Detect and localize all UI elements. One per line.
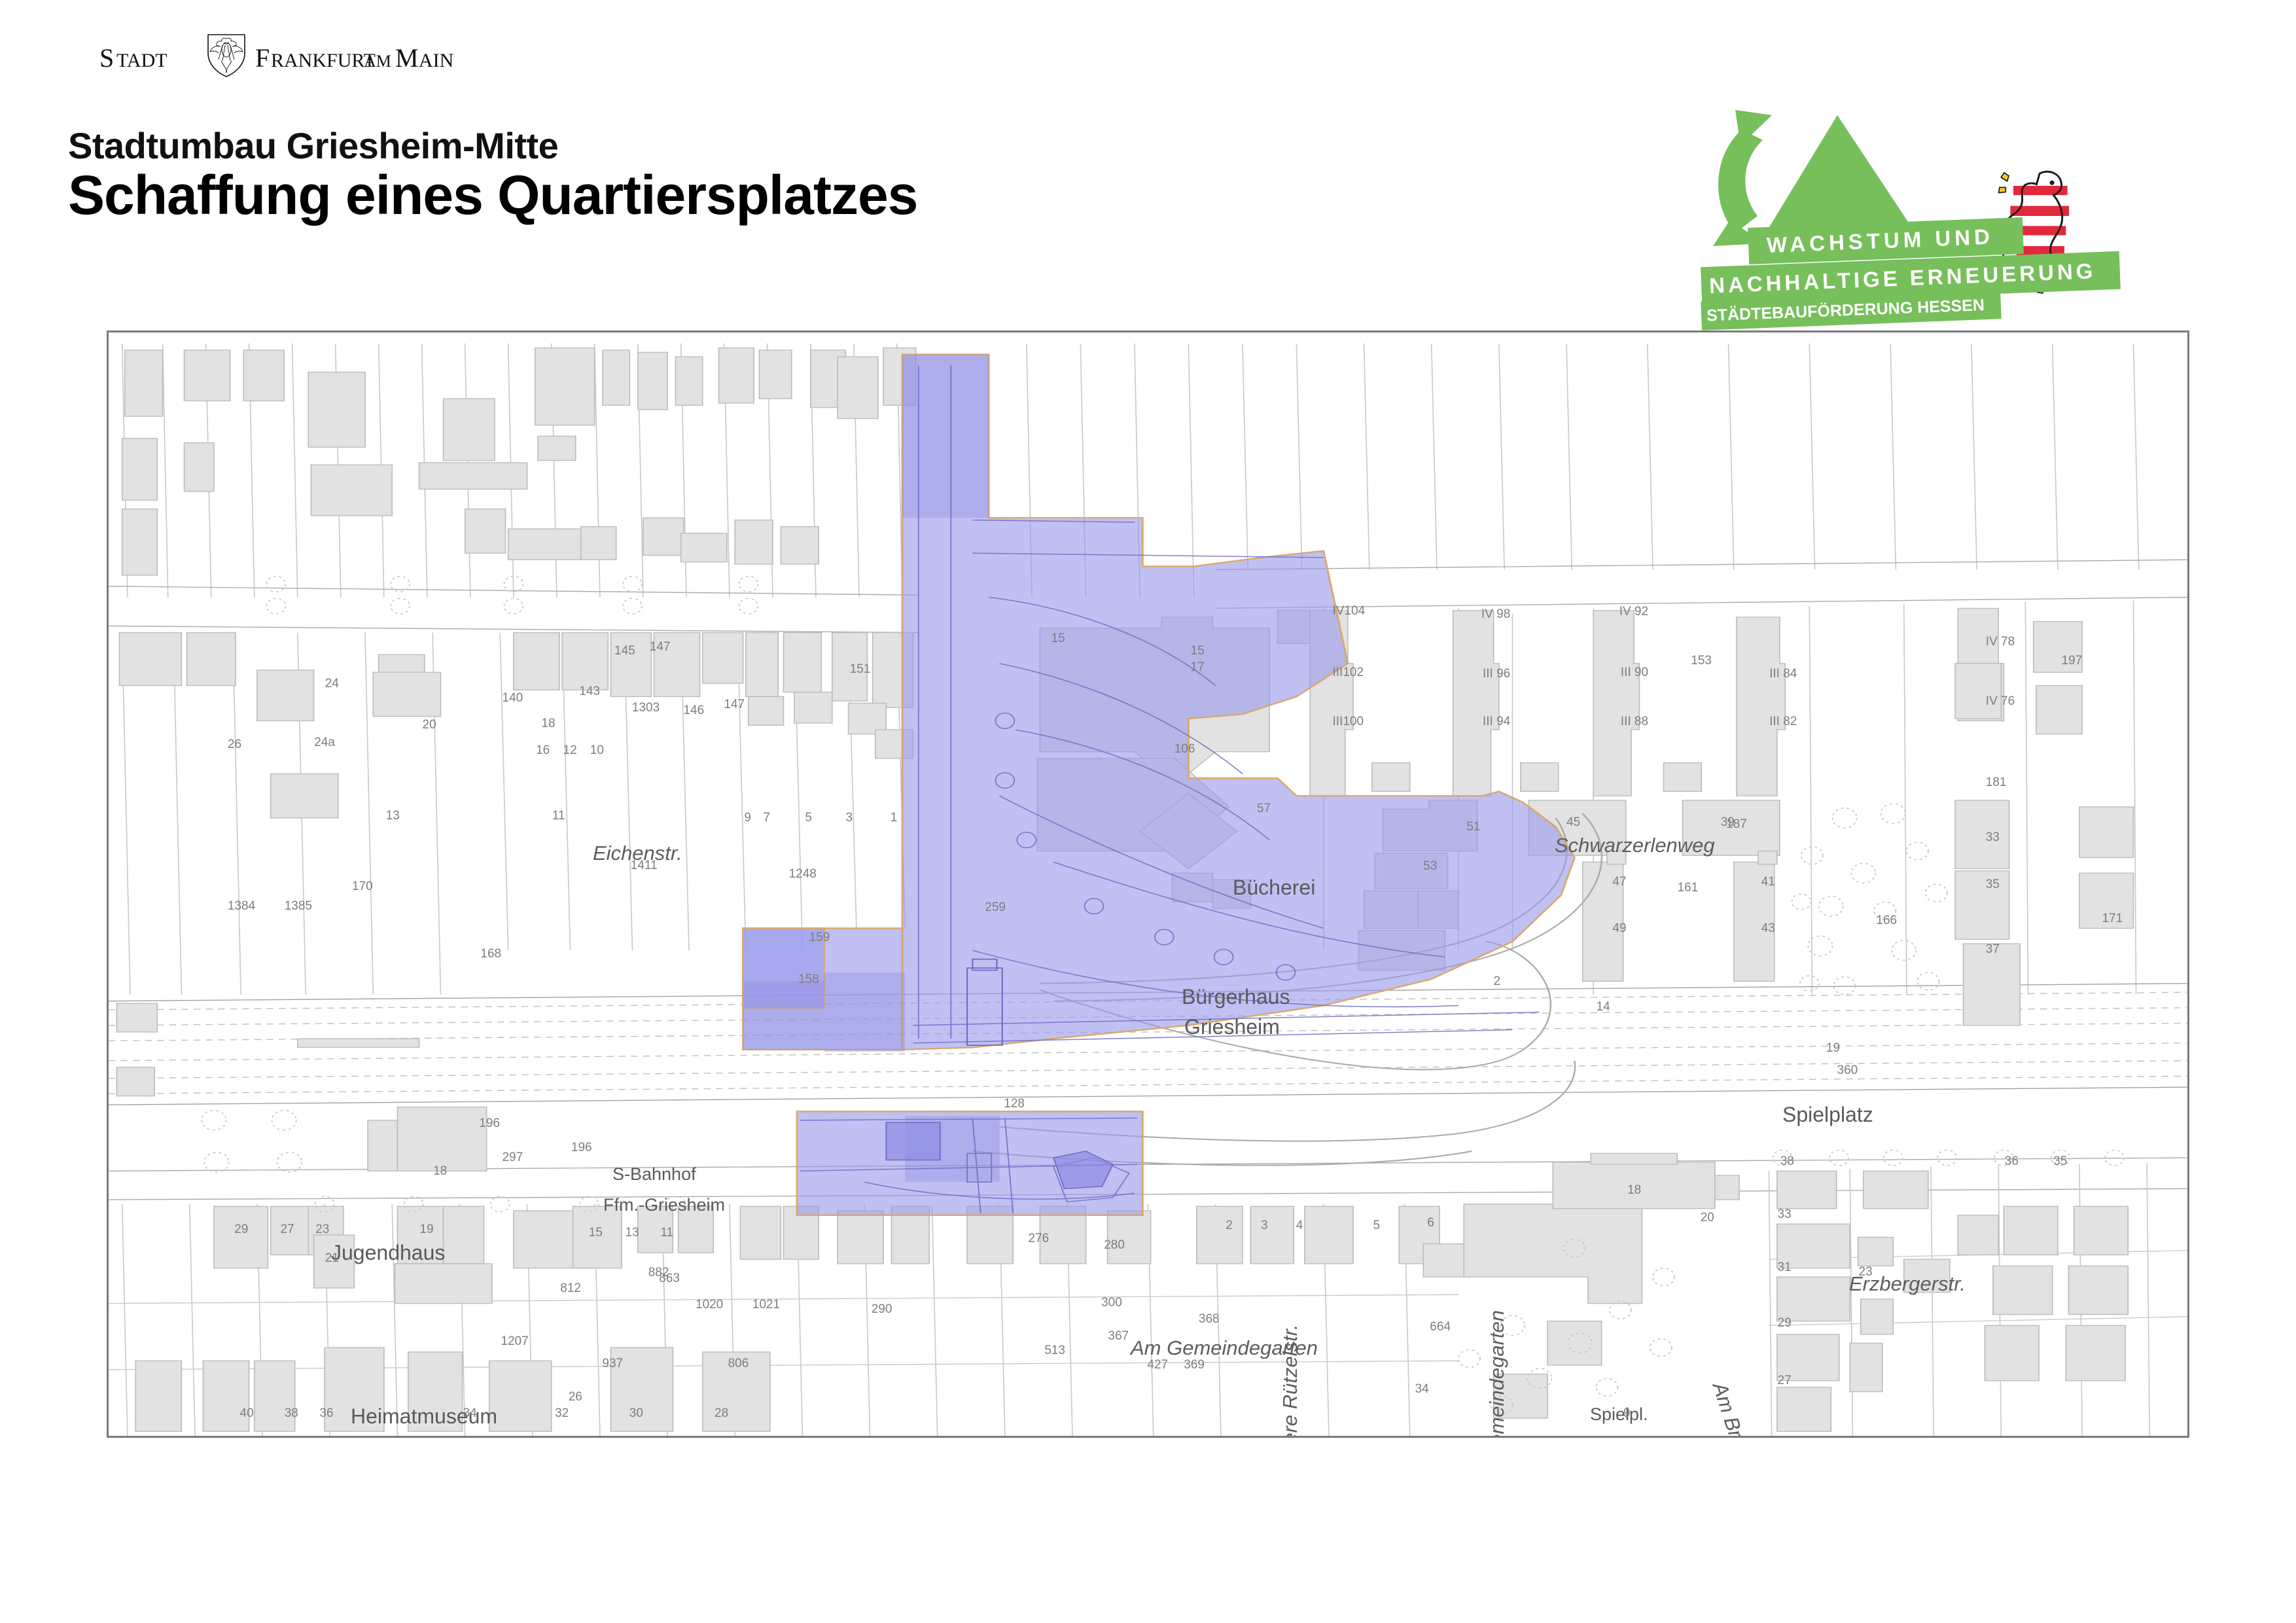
svg-text:TADT: TADT <box>116 50 168 71</box>
svg-text:AM: AM <box>364 52 391 71</box>
svg-text:M: M <box>395 43 419 73</box>
svg-text:F: F <box>255 43 270 73</box>
svg-text:RANKFURT: RANKFURT <box>271 50 376 71</box>
poster-subtitle: Stadtumbau Griesheim-Mitte <box>68 124 558 167</box>
recycle-arrow-icon <box>1713 110 1772 246</box>
page-title: Schaffung eines Quartiersplatzes <box>68 164 917 227</box>
svg-text:S: S <box>99 43 114 73</box>
cadastral-map[interactable]: Eichenstr. Schwarzerlenweg Erzbergerstr.… <box>107 330 2189 1438</box>
funding-logo-strip: Bundesministerium für Wohnen, Stadtentwi… <box>0 1450 2296 1623</box>
poster-page: S TADT F RANKFURT AM M AIN Stadtumbau Gr… <box>0 0 2296 1623</box>
stadt-frankfurt-wordmark: S TADT F RANKFURT AM M AIN <box>97 31 516 77</box>
svg-text:AIN: AIN <box>419 50 453 71</box>
map-drawing <box>109 332 2187 1436</box>
